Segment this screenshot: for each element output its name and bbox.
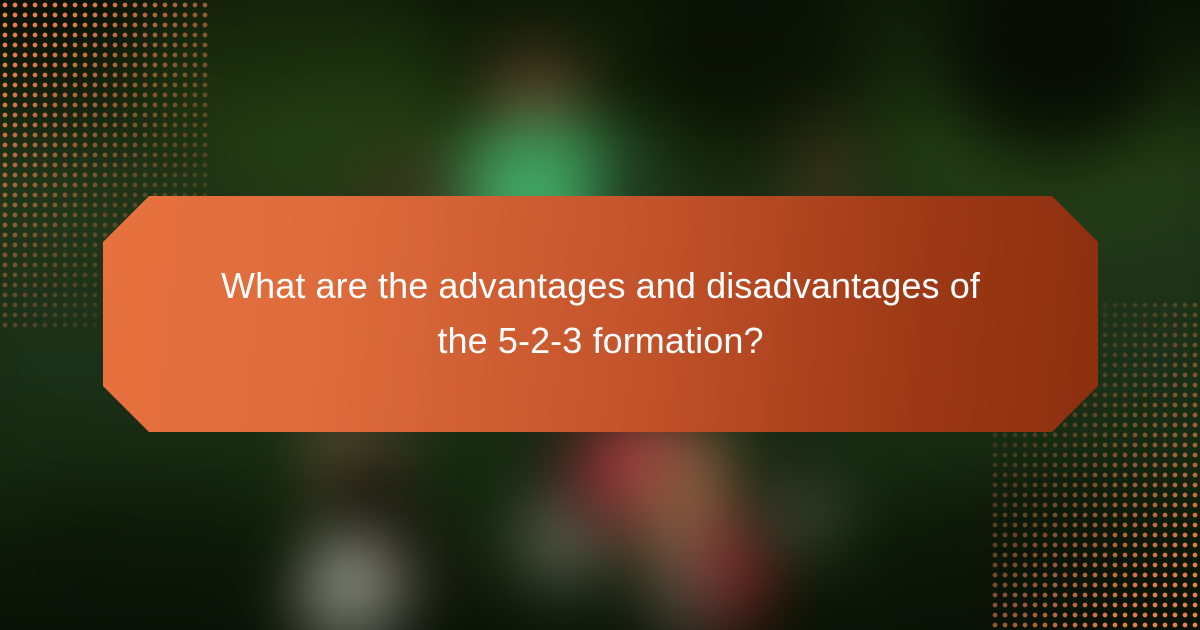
question-title: What are the advantages and disadvantage… [206, 259, 996, 368]
question-card: What are the advantages and disadvantage… [0, 0, 1200, 630]
question-banner: What are the advantages and disadvantage… [103, 196, 1098, 432]
